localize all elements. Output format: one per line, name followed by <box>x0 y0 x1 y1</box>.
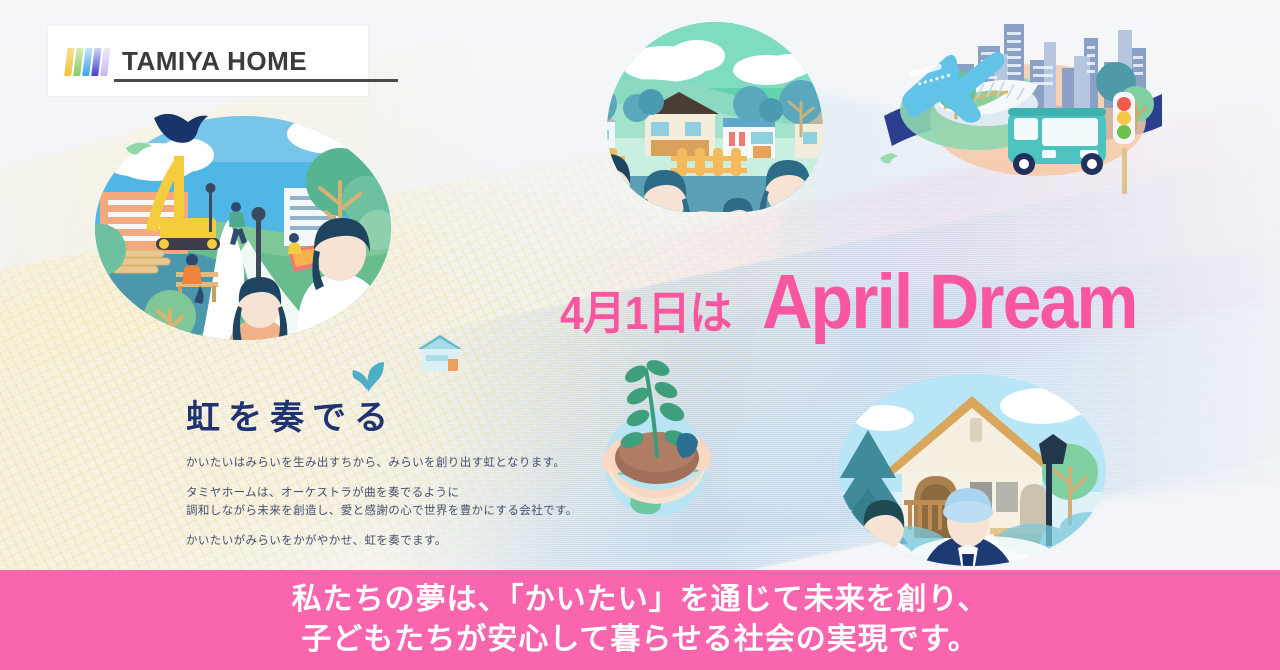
house-consultation-illustration <box>822 372 1122 572</box>
logo-bars-icon <box>64 46 111 76</box>
small-house-icon <box>412 331 468 377</box>
copy-paragraph-2: タミヤホームは、オーケストラが曲を奏でるように 調和しながら未来を創造し、愛と感… <box>186 485 586 521</box>
logo-underline <box>114 79 398 82</box>
copy-paragraph-1: かいたいはみらいを生み出すちから、みらいを創り出す虹となります。 <box>186 455 586 473</box>
copy-paragraph-3: かいたいがみらいをかがやかせ、虹を奏でます。 <box>186 533 586 551</box>
banner-line-1: 私たちの夢は、「かいたい」を通じて未来を創り、 <box>292 581 989 619</box>
brand-logo-card: TAMIYA HOME <box>48 26 368 96</box>
hands-sapling-globe-illustration <box>592 352 722 522</box>
april-dream-headline: 4月1日は April Dream <box>560 264 1148 346</box>
copy-paragraph-2-line-2: 調和しながら未来を創造し、愛と感謝の心で世界を豊かにする会社です。 <box>186 505 578 517</box>
leaf-sprout-icon <box>352 360 386 394</box>
park-demolition-illustration <box>78 100 408 370</box>
city-transport-illustration <box>878 8 1168 208</box>
neighborhood-families-illustration <box>565 18 865 258</box>
headline-date-prefix: 4月1日は <box>560 277 731 343</box>
dream-statement-banner: 私たちの夢は、「かいたい」を通じて未来を創り、 子どもたちが安心して暮らせる社会… <box>0 570 1280 670</box>
banner-line-2: 子どもたちが安心して暮らせる社会の実現です。 <box>301 621 979 659</box>
poster-canvas: TAMIYA HOME 4月1日は April Dream 虹を奏でる かいたい… <box>0 0 1280 670</box>
copy-paragraph-2-line-1: タミヤホームは、オーケストラが曲を奏でるように <box>186 487 459 499</box>
message-copy-block: 虹を奏でる かいたいはみらいを生み出すちから、みらいを創り出す虹となります。 タ… <box>186 400 586 551</box>
headline-title: April Dream <box>762 258 1137 346</box>
logo-wordmark: TAMIYA HOME <box>122 46 307 77</box>
copy-heading: 虹を奏でる <box>186 400 586 437</box>
